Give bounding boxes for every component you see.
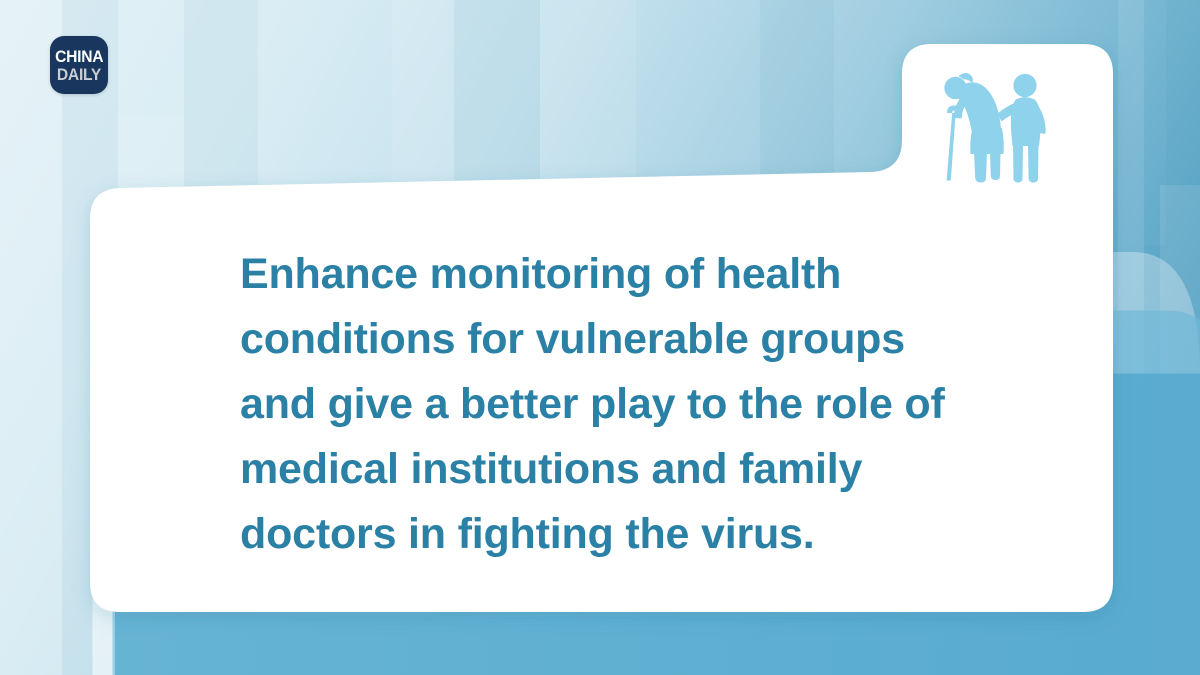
logo-text-china: CHINA <box>55 48 103 65</box>
headline: Enhance monitoring of health conditions … <box>240 242 1020 567</box>
headline-line: conditions for vulnerable groups <box>240 307 1020 372</box>
logo-text-daily: DAILY <box>57 66 101 83</box>
poster-canvas: CHINA DAILY <box>0 0 1200 675</box>
headline-line: and give a better play to the role of <box>240 372 1020 437</box>
headline-line: doctors in fighting the virus. <box>240 502 1020 567</box>
headline-line: medical institutions and family <box>240 437 1020 502</box>
china-daily-logo[interactable]: CHINA DAILY <box>50 36 108 94</box>
headline-line: Enhance monitoring of health <box>240 242 1020 307</box>
elderly-with-caregiver-icon <box>928 68 1052 186</box>
